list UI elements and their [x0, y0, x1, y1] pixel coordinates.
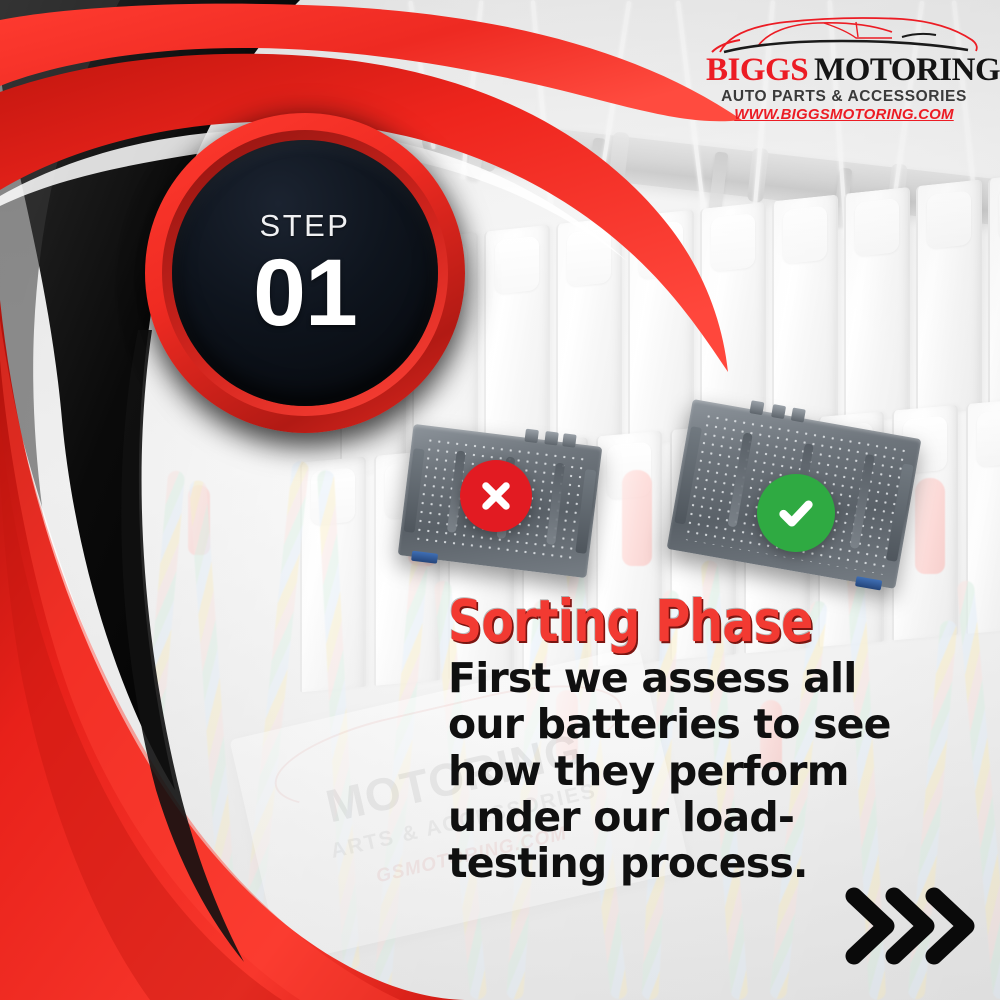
- logo-tagline: AUTO PARTS & ACCESSORIES: [706, 88, 982, 106]
- logo-website-link[interactable]: WWW.BIGGSMOTORING.COM: [706, 106, 982, 123]
- double-chevron-right-icon: [838, 876, 988, 976]
- body-copy: First we assess all our batteries to see…: [448, 655, 928, 887]
- module-terminal-lug: [524, 429, 538, 443]
- headline: Sorting Phase: [448, 594, 842, 649]
- step-label: STEP: [260, 208, 351, 244]
- module-terminal-lug: [544, 431, 558, 445]
- logo-wordmark: BIGGSMOTORING.com: [706, 52, 982, 89]
- step-badge: STEP 01: [145, 113, 465, 433]
- copy-block: Sorting Phase First we assess all our ba…: [448, 594, 928, 887]
- promo-poster: MOTORING ARTS & ACCESSORIES GSMOTORING.C…: [0, 0, 1000, 1000]
- check-mark-icon: [757, 474, 835, 552]
- brand-logo[interactable]: BIGGSMOTORING.com AUTO PARTS & ACCESSORI…: [706, 12, 982, 116]
- module-terminal-lug: [749, 400, 764, 415]
- x-mark-icon: [460, 460, 532, 532]
- module-terminal-lug: [791, 408, 806, 423]
- logo-name-second: MOTORING: [814, 52, 1000, 88]
- module-terminal-lug: [771, 404, 786, 419]
- logo-name-first: BIGGS: [706, 52, 808, 88]
- step-number: 01: [253, 250, 357, 337]
- badge-core: STEP 01: [172, 140, 438, 406]
- module-terminal-lug: [562, 433, 576, 447]
